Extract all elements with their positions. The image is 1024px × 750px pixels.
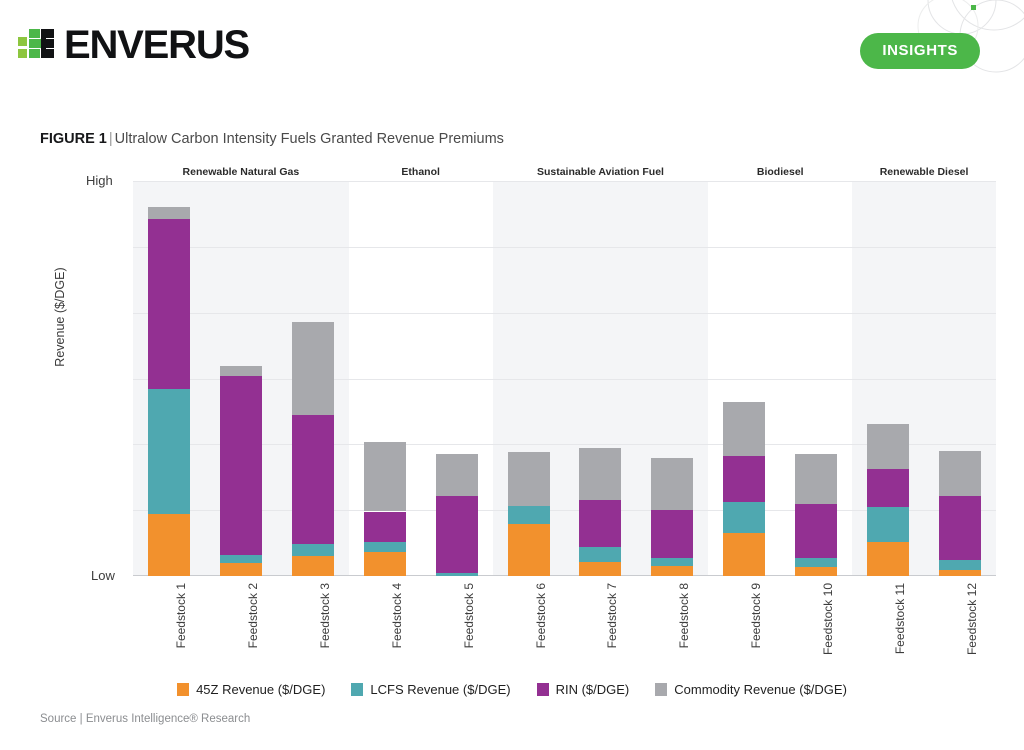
- bar-feedstock-4[interactable]: [364, 442, 406, 576]
- legend-swatch-rin: [537, 683, 549, 696]
- group-header-renewable-natural-gas: Renewable Natural Gas: [133, 166, 349, 178]
- group-header-ethanol: Ethanol: [349, 166, 493, 178]
- group-header-renewable-diesel: Renewable Diesel: [852, 166, 996, 178]
- bar-feedstock-9[interactable]: [723, 402, 765, 576]
- bar-feedstock-12[interactable]: [939, 451, 981, 576]
- x-axis-label-feedstock-9: Feedstock 9: [749, 583, 763, 648]
- bar-feedstock-7[interactable]: [579, 448, 621, 576]
- bar-segment: [867, 542, 909, 576]
- legend-swatch-lcfs: [351, 683, 363, 696]
- bar-segment: [867, 469, 909, 507]
- bar-feedstock-6[interactable]: [508, 452, 550, 576]
- bar-segment: [436, 573, 478, 576]
- bar-segment: [364, 442, 406, 511]
- group-header-sustainable-aviation-fuel: Sustainable Aviation Fuel: [493, 166, 709, 178]
- gridline: [133, 379, 996, 380]
- legend-label: RIN ($/DGE): [556, 682, 630, 697]
- bar-feedstock-5[interactable]: [436, 454, 478, 576]
- y-axis-title: Revenue ($/DGE): [53, 252, 67, 382]
- bar-segment: [795, 454, 837, 503]
- legend-label: LCFS Revenue ($/DGE): [370, 682, 510, 697]
- bar-segment: [220, 563, 262, 576]
- bar-segment: [220, 555, 262, 563]
- bar-segment: [795, 558, 837, 567]
- bar-segment: [148, 219, 190, 389]
- bar-segment: [364, 512, 406, 542]
- bar-segment: [292, 556, 334, 576]
- group-header-biodiesel: Biodiesel: [708, 166, 852, 178]
- x-axis-label-feedstock-6: Feedstock 6: [534, 583, 548, 648]
- x-axis-label-feedstock-5: Feedstock 5: [462, 583, 476, 648]
- bar-segment: [795, 504, 837, 558]
- legend-label: 45Z Revenue ($/DGE): [196, 682, 325, 697]
- bar-segment: [148, 389, 190, 514]
- bar-segment: [939, 560, 981, 570]
- bar-segment: [220, 366, 262, 376]
- bar-segment: [220, 376, 262, 555]
- bar-segment: [292, 415, 334, 544]
- bar-segment: [579, 562, 621, 576]
- legend-label: Commodity Revenue ($/DGE): [674, 682, 847, 697]
- chart-legend: 45Z Revenue ($/DGE)LCFS Revenue ($/DGE)R…: [0, 682, 1024, 697]
- bar-segment: [723, 402, 765, 456]
- bar-segment: [651, 558, 693, 566]
- bar-segment: [651, 566, 693, 576]
- bar-segment: [508, 506, 550, 524]
- bar-segment: [508, 452, 550, 506]
- bar-feedstock-3[interactable]: [292, 322, 334, 576]
- bar-segment: [292, 544, 334, 556]
- bar-segment: [651, 458, 693, 511]
- plot-area: [133, 181, 996, 576]
- page-root: ENVERUS INSIGHTS FIGURE 1|Ultralow Carbo…: [0, 0, 1024, 750]
- x-axis-label-feedstock-4: Feedstock 4: [390, 583, 404, 648]
- bar-segment: [867, 424, 909, 469]
- x-axis-label-feedstock-11: Feedstock 11: [893, 583, 907, 654]
- x-axis-label-feedstock-1: Feedstock 1: [174, 583, 188, 648]
- bar-segment: [723, 502, 765, 533]
- bar-segment: [579, 547, 621, 562]
- bar-segment: [723, 533, 765, 576]
- x-axis-label-feedstock-7: Feedstock 7: [605, 583, 619, 648]
- source-note: Source | Enverus Intelligence® Research: [40, 713, 250, 725]
- x-axis-label-feedstock-12: Feedstock 12: [965, 583, 979, 655]
- x-axis-label-feedstock-8: Feedstock 8: [677, 583, 691, 648]
- bar-segment: [436, 454, 478, 495]
- chart-container: High Low Revenue ($/DGE) Renewable Natur…: [0, 0, 1024, 750]
- bar-segment: [939, 451, 981, 496]
- x-axis-label-feedstock-3: Feedstock 3: [318, 583, 332, 648]
- bar-segment: [364, 542, 406, 553]
- legend-swatch-commodity: [655, 683, 667, 696]
- bar-segment: [867, 507, 909, 542]
- bar-segment: [364, 552, 406, 576]
- legend-item[interactable]: LCFS Revenue ($/DGE): [351, 682, 510, 697]
- bar-segment: [939, 496, 981, 561]
- bar-feedstock-1[interactable]: [148, 207, 190, 576]
- bar-segment: [651, 510, 693, 558]
- x-axis-label-feedstock-2: Feedstock 2: [246, 583, 260, 648]
- legend-item[interactable]: Commodity Revenue ($/DGE): [655, 682, 847, 697]
- bar-segment: [579, 500, 621, 547]
- bar-feedstock-10[interactable]: [795, 454, 837, 576]
- legend-item[interactable]: 45Z Revenue ($/DGE): [177, 682, 325, 697]
- bar-segment: [939, 570, 981, 576]
- bar-segment: [436, 496, 478, 574]
- bar-segment: [148, 514, 190, 576]
- x-axis-label-feedstock-10: Feedstock 10: [821, 583, 835, 655]
- bar-feedstock-11[interactable]: [867, 424, 909, 576]
- bar-segment: [148, 207, 190, 219]
- bar-segment: [579, 448, 621, 501]
- legend-swatch-45z: [177, 683, 189, 696]
- bar-feedstock-2[interactable]: [220, 366, 262, 576]
- gridline: [133, 313, 996, 314]
- bar-segment: [795, 567, 837, 576]
- gridline: [133, 181, 996, 182]
- bar-segment: [292, 322, 334, 415]
- bar-segment: [723, 456, 765, 502]
- bar-feedstock-8[interactable]: [651, 458, 693, 577]
- bar-segment: [508, 524, 550, 576]
- legend-item[interactable]: RIN ($/DGE): [537, 682, 630, 697]
- gridline: [133, 247, 996, 248]
